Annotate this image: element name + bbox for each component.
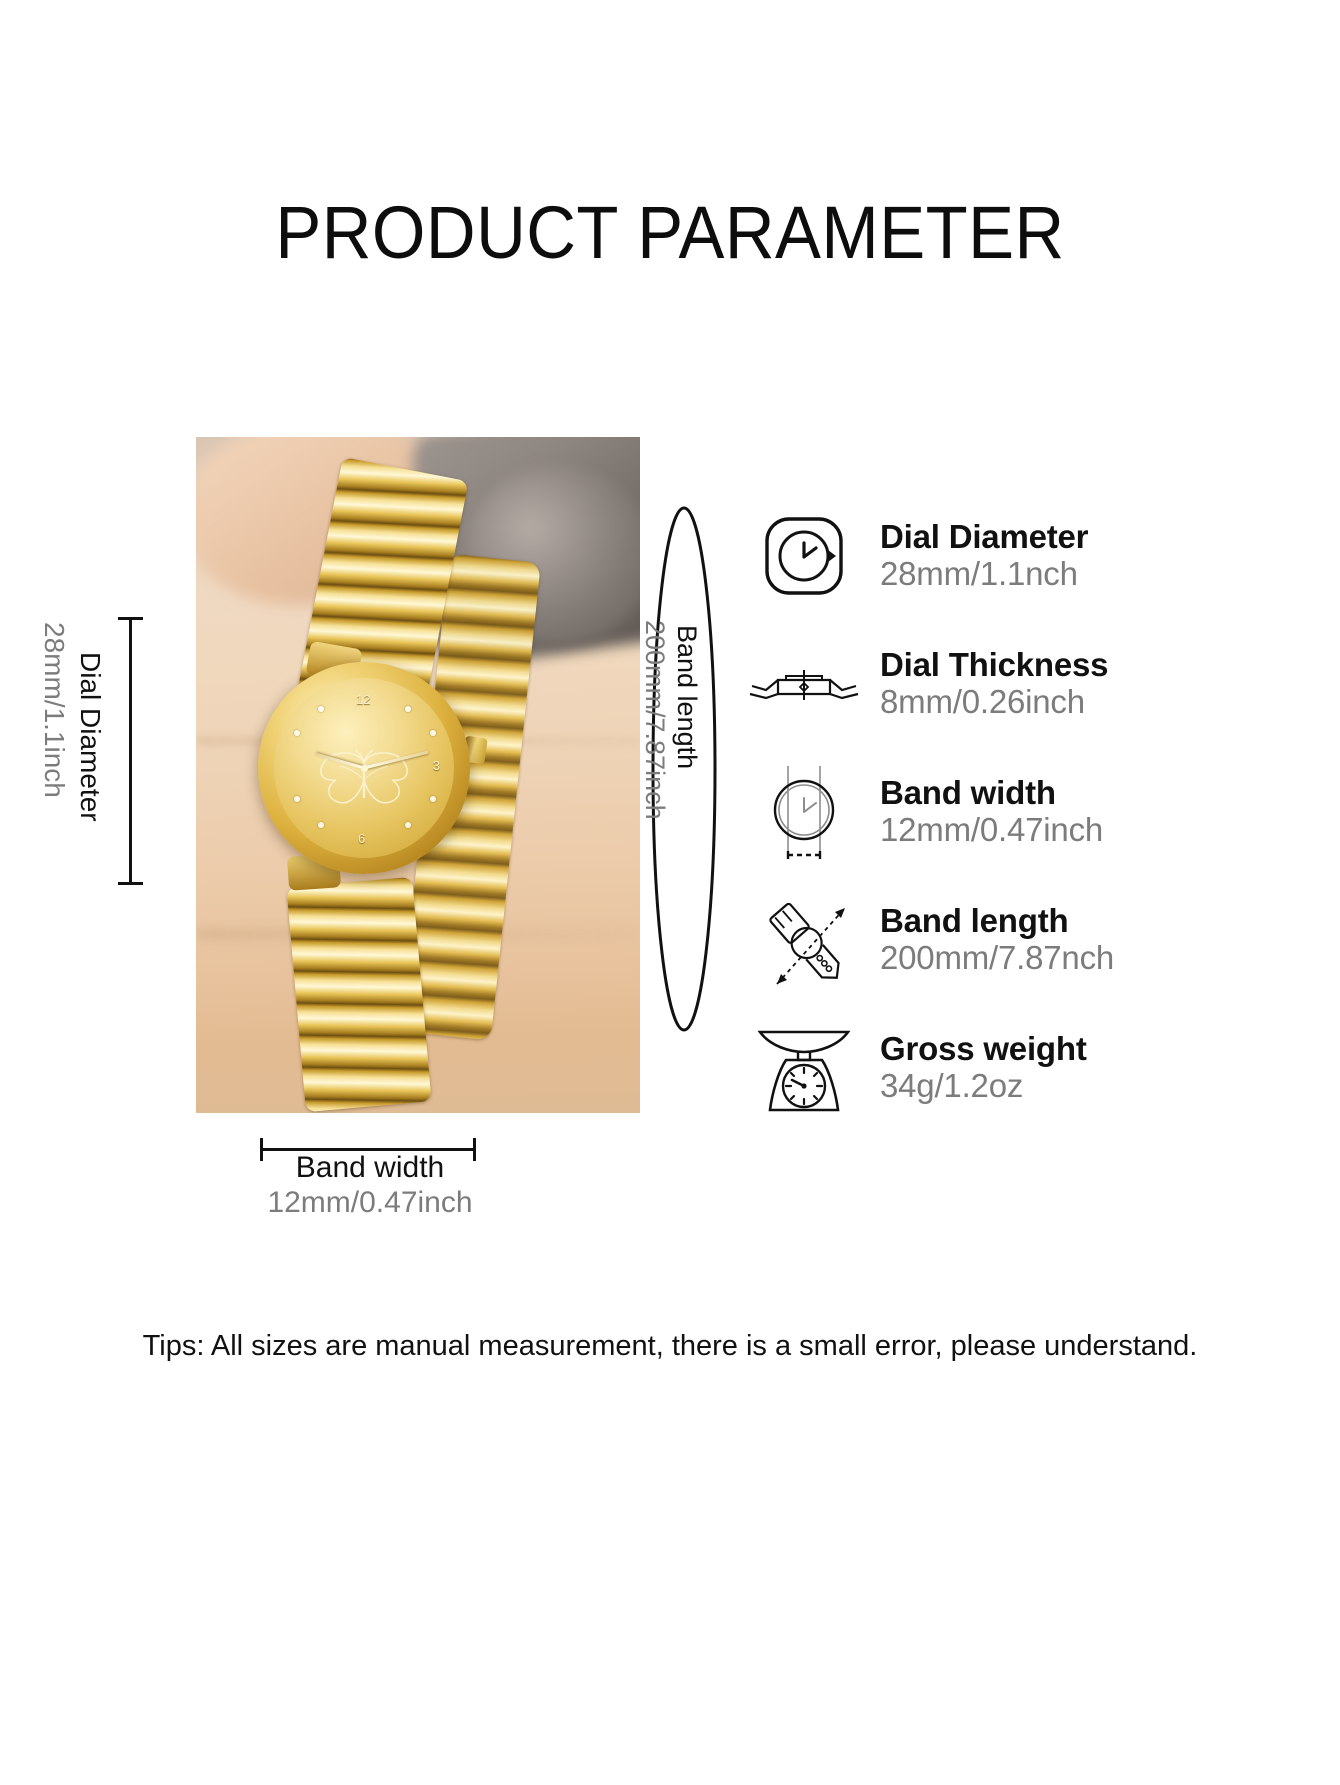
dial-diameter-vertical-label: Dial Diameter [76,652,104,822]
dial-marker [430,796,436,802]
spec-text: Gross weight 34g/1.2oz [860,1031,1087,1105]
spec-row-dial-thickness: Dial Thickness 8mm/0.26inch [748,620,1308,748]
watch-face-lugs-icon [748,760,860,864]
dial-numeral-12: 12 [356,692,370,707]
spec-label: Gross weight [880,1031,1087,1068]
dial-marker [318,706,324,712]
spec-value: 34g/1.2oz [880,1068,1087,1105]
spec-label: Band width [880,775,1103,812]
spec-row-dial-diameter: Dial Diameter 28mm/1.1nch [748,492,1308,620]
dial-diameter-dimension-bar [118,617,142,885]
watch-case: 12 3 6 [258,662,470,874]
kitchen-scale-icon [748,1016,860,1120]
spec-value: 200mm/7.87nch [880,940,1114,977]
band-length-ellipse-label: Band length [673,625,700,769]
watch-dial: 12 3 6 [274,678,454,858]
dimension-cap-top [118,617,143,620]
spec-text: Dial Diameter 28mm/1.1nch [860,519,1088,593]
watch-strap-diagonal-icon [748,888,860,992]
spec-row-band-length: Band length 200mm/7.87nch [748,876,1308,1004]
spec-value: 8mm/0.26inch [880,684,1108,721]
dial-marker [294,730,300,736]
watch-side-profile-icon [748,632,860,736]
page-title: PRODUCT PARAMETER [47,196,1293,270]
dial-diameter-vertical-value: 28mm/1.1inch [40,622,68,798]
spec-label: Dial Diameter [880,519,1088,556]
dimension-cap-bottom [118,882,143,885]
spec-text: Dial Thickness 8mm/0.26inch [860,647,1108,721]
watch-band-lower [286,877,431,1112]
spec-row-band-width: Band width 12mm/0.47inch [748,748,1308,876]
spec-label: Dial Thickness [880,647,1108,684]
band-length-ellipse-value: 200mm/7.87inch [641,620,668,820]
spec-list: Dial Diameter 28mm/1.1nch Dial Thickness… [748,492,1308,1132]
dial-numeral-3: 3 [433,758,440,773]
spec-label: Band length [880,903,1114,940]
tips-text: Tips: All sizes are manual measurement, … [0,1330,1340,1363]
dial-marker [318,822,324,828]
dial-marker [405,822,411,828]
watch-square-clock-icon [748,504,860,608]
dial-marker [294,796,300,802]
band-width-caption-value: 12mm/0.47inch [200,1185,540,1220]
spec-text: Band width 12mm/0.47inch [860,775,1103,849]
dial-numeral-6: 6 [358,831,365,846]
band-width-caption: Band width 12mm/0.47inch [200,1150,540,1221]
product-photo: 12 3 6 [196,437,640,1113]
spec-value: 12mm/0.47inch [880,812,1103,849]
spec-value: 28mm/1.1nch [880,556,1088,593]
dial-marker [430,730,436,736]
spec-row-gross-weight: Gross weight 34g/1.2oz [748,1004,1308,1132]
band-width-caption-label: Band width [200,1150,540,1185]
spec-text: Band length 200mm/7.87nch [860,903,1114,977]
watch-hand-pin [361,765,368,772]
dimension-stem [129,617,132,885]
dial-marker [405,706,411,712]
